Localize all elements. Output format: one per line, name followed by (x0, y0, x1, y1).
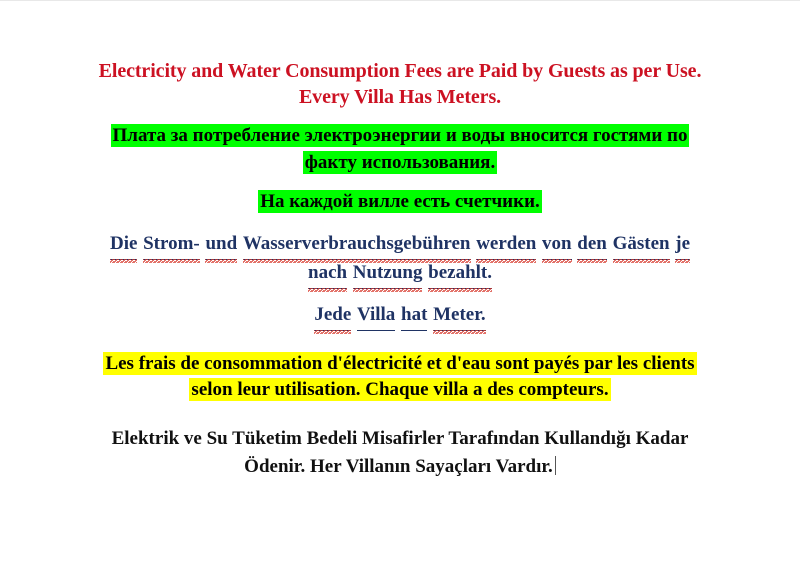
section-russian-2: На каждой вилле есть счетчики. (0, 177, 800, 216)
russian-line-3-wrap: На каждой вилле есть счетчики. (0, 189, 800, 216)
section-german-2: JedeVillahatMeter. (0, 289, 800, 331)
german-word: Die (110, 231, 137, 260)
german-word: Wasserverbrauchsgebühren (243, 231, 471, 260)
german-line-2: nachNutzungbezahlt. (0, 260, 800, 289)
german-word: nach (308, 260, 347, 289)
russian-line-2: факту использования. (303, 151, 497, 174)
english-line-2: Every Villa Has Meters. (0, 84, 800, 110)
german-word: und (205, 231, 237, 260)
german-word: Nutzung (353, 260, 423, 289)
section-german: DieStrom-undWasserverbrauchsgebührenwerd… (0, 216, 800, 289)
german-word: je (675, 231, 690, 260)
german-word: Jede (314, 302, 351, 331)
german-line-3: JedeVillahatMeter. (0, 302, 800, 331)
french-line-2: selon leur utilisation. Chaque villa a d… (189, 378, 610, 401)
english-line-1: Electricity and Water Consumption Fees a… (0, 58, 800, 84)
russian-line-2-wrap: факту использования. (0, 150, 800, 177)
german-word: Meter. (433, 302, 486, 331)
french-line-1-wrap: Les frais de consommation d'électricité … (0, 351, 800, 378)
german-word: Strom- (143, 231, 200, 260)
german-line-1: DieStrom-undWasserverbrauchsgebührenwerd… (0, 231, 800, 260)
german-word: Villa (357, 302, 395, 331)
german-word: werden (476, 231, 536, 260)
turkish-line-2-wrap: Ödenir. Her Villanın Sayaçları Vardır. (0, 453, 800, 481)
russian-line-1-wrap: Плата за потребление электроэнергии и во… (0, 123, 800, 150)
document-page: Electricity and Water Consumption Fees a… (0, 1, 800, 566)
french-line-1: Les frais de consommation d'électricité … (103, 352, 696, 375)
german-word: bezahlt. (428, 260, 492, 289)
russian-line-1: Плата за потребление электроэнергии и во… (111, 124, 690, 147)
turkish-line-2: Ödenir. Her Villanın Sayaçları Vardır. (244, 456, 553, 477)
section-turkish: Elektrik ve Su Tüketim Bedeli Misafirler… (0, 404, 800, 480)
text-cursor (555, 456, 556, 475)
russian-line-3: На каждой вилле есть счетчики. (258, 190, 542, 213)
german-word: Gästen (613, 231, 670, 260)
german-word: den (577, 231, 607, 260)
french-line-2-wrap: selon leur utilisation. Chaque villa a d… (0, 377, 800, 404)
section-french: Les frais de consommation d'électricité … (0, 331, 800, 404)
german-word: von (542, 231, 572, 260)
german-word: hat (401, 302, 427, 331)
section-russian: Плата за потребление электроэнергии и во… (0, 110, 800, 177)
turkish-line-1: Elektrik ve Su Tüketim Bedeli Misafirler… (0, 425, 800, 453)
section-english: Electricity and Water Consumption Fees a… (0, 1, 800, 110)
